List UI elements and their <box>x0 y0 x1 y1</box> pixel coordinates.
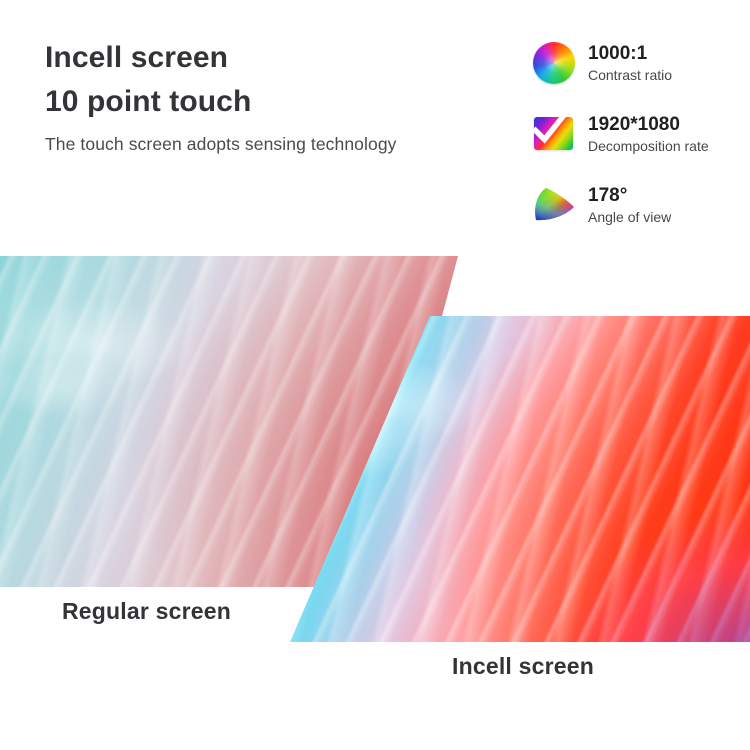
rainbow-check-square-icon <box>531 111 577 157</box>
feature-value: 178° <box>588 184 671 207</box>
feature-label: Decomposition rate <box>588 137 709 156</box>
feature-item-decomposition-rate: 1920*1080 Decomposition rate <box>531 111 746 157</box>
headline-block: Incell screen 10 point touch The touch s… <box>45 36 525 155</box>
feature-label: Contrast ratio <box>588 66 672 85</box>
feature-spec-list: 1000:1 Contrast ratio 1920*1080 Decompos… <box>531 40 746 228</box>
chromaticity-wedge-icon <box>531 182 577 228</box>
feature-item-angle-of-view: 178° Angle of view <box>531 182 746 228</box>
feature-text: 1000:1 Contrast ratio <box>588 42 672 85</box>
feature-value: 1000:1 <box>588 42 672 65</box>
wedge-shape-icon <box>532 186 576 224</box>
headline-line-1: Incell screen <box>45 36 525 80</box>
feature-text: 178° Angle of view <box>588 184 671 227</box>
feature-text: 1920*1080 Decomposition rate <box>588 113 709 156</box>
check-mark-cutout-icon <box>534 117 573 150</box>
panel-caption-regular: Regular screen <box>62 598 231 625</box>
headline-line-2: 10 point touch <box>45 80 525 124</box>
feature-label: Angle of view <box>588 208 671 227</box>
color-wheel-icon <box>531 40 577 86</box>
headline-subtitle: The touch screen adopts sensing technolo… <box>45 133 525 155</box>
panel-caption-incell: Incell screen <box>452 653 594 680</box>
promo-graphic: Incell screen 10 point touch The touch s… <box>0 0 750 750</box>
feature-item-contrast-ratio: 1000:1 Contrast ratio <box>531 40 746 86</box>
feature-value: 1920*1080 <box>588 113 709 136</box>
